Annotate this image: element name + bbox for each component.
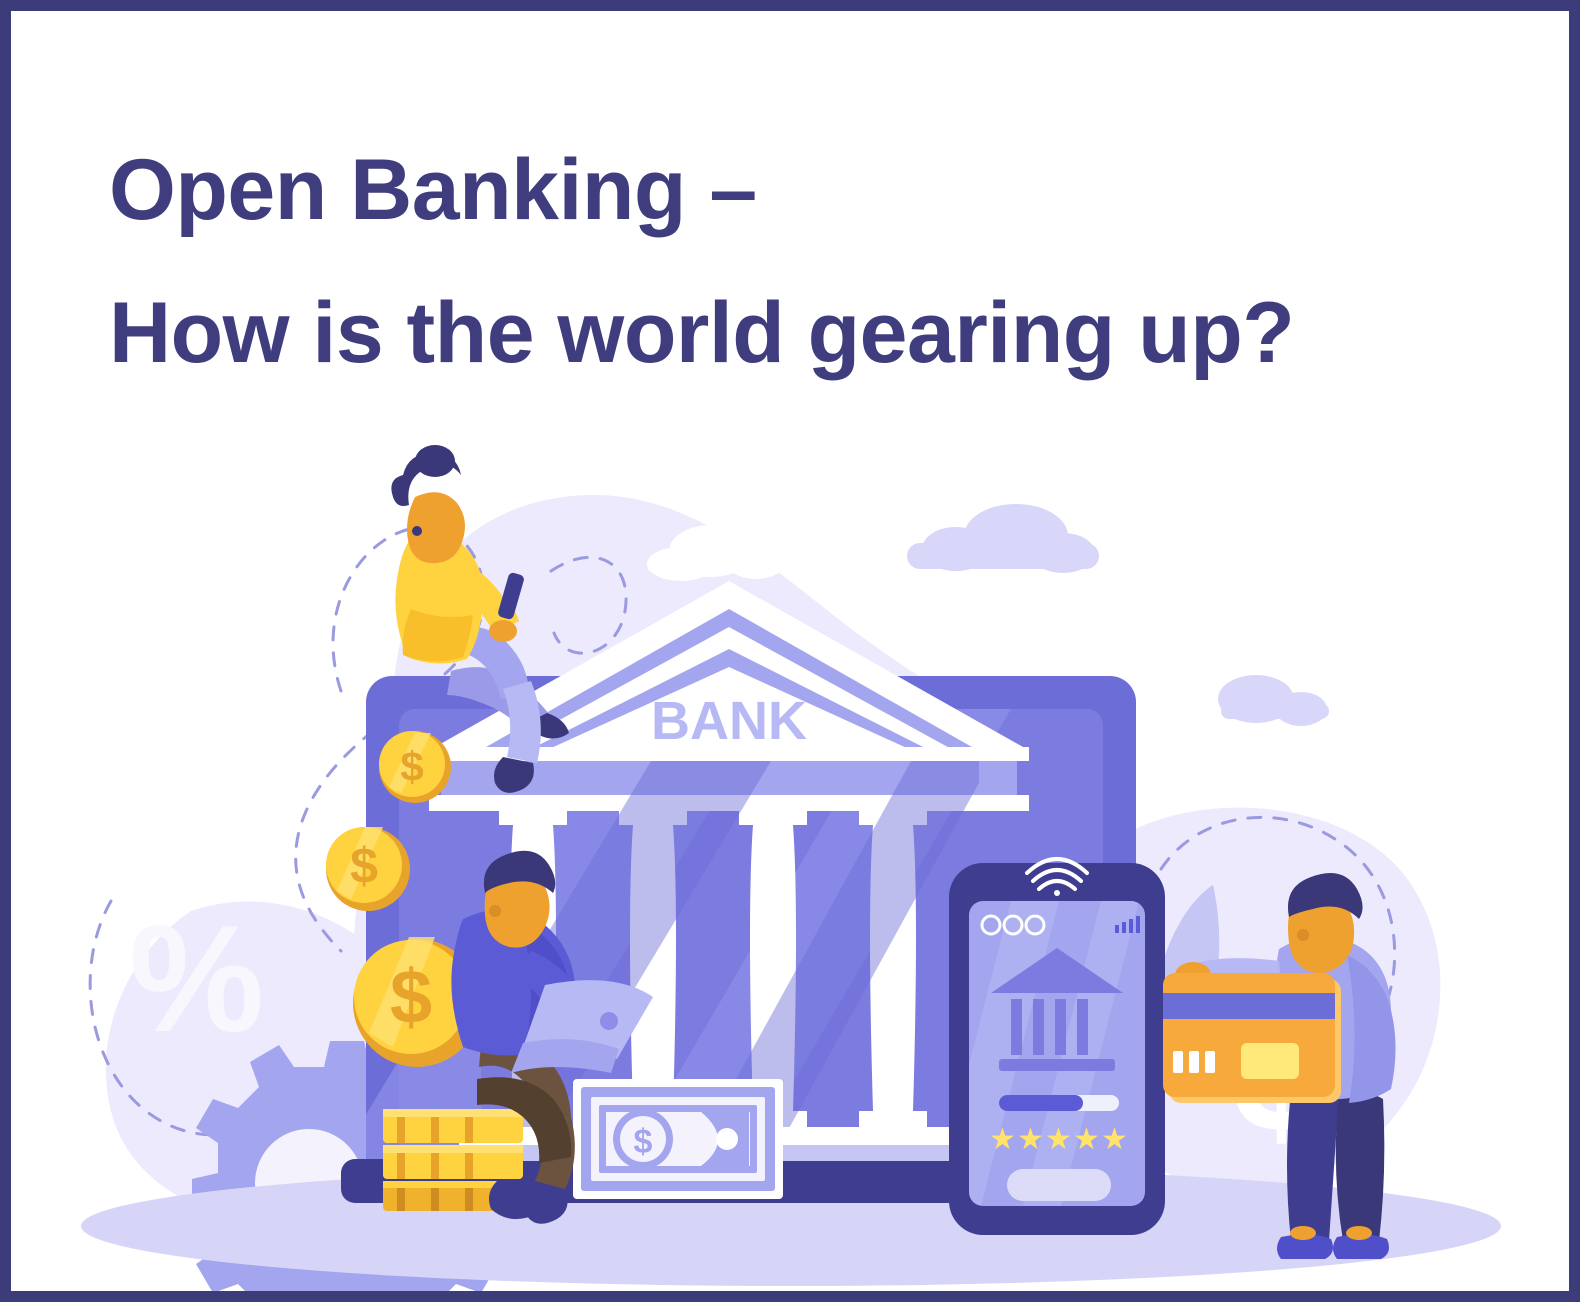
- coin-large-symbol: $: [390, 955, 432, 1040]
- star-icon-2: ★: [1017, 1123, 1044, 1156]
- woman-hand: [489, 620, 517, 642]
- percent-icon: %: [129, 894, 264, 1064]
- phone-star-rating: ★ ★ ★ ★ ★: [989, 1123, 1128, 1156]
- man-card-ear: [1297, 929, 1309, 941]
- woman-hair-bun: [415, 445, 455, 477]
- banknote: $: [573, 1079, 783, 1199]
- coin-stack-middle: [383, 1145, 523, 1179]
- star-icon-4: ★: [1073, 1123, 1100, 1156]
- coin-stack-top: [383, 1109, 523, 1143]
- credit-card-number-blocks: [1173, 1051, 1215, 1073]
- page-title-line-1: Open Banking –: [109, 119, 1469, 262]
- mobile-phone: ★ ★ ★ ★ ★: [933, 859, 1165, 1235]
- page-title-line-2: How is the world gearing up?: [109, 262, 1469, 405]
- woman-sweater-shade: [403, 609, 473, 662]
- coin-small-symbol: $: [400, 743, 423, 790]
- bank-label: BANK: [651, 691, 807, 751]
- phone-action-button[interactable]: [1007, 1169, 1111, 1201]
- star-icon-1: ★: [989, 1123, 1016, 1156]
- wifi-icon-dot: [1054, 890, 1060, 896]
- man-laptop-ear: [489, 905, 501, 917]
- star-icon-3: ★: [1045, 1123, 1072, 1156]
- page-title: Open Banking – How is the world gearing …: [109, 119, 1469, 405]
- cloud-lavender-top: [907, 504, 1099, 573]
- coin-small: $: [379, 731, 451, 803]
- screenshot-canvas: Open Banking – How is the world gearing …: [0, 0, 1580, 1302]
- open-banking-illustration: % $: [11, 431, 1569, 1291]
- slide-page: Open Banking – How is the world gearing …: [11, 11, 1569, 1291]
- man-card-ankle-left: [1290, 1226, 1316, 1240]
- credit-card: [1163, 973, 1341, 1103]
- credit-card-chip: [1241, 1043, 1299, 1079]
- coin-medium-symbol: $: [350, 838, 378, 894]
- credit-card-magnetic-stripe: [1163, 993, 1335, 1019]
- percent-symbol: %: [129, 894, 264, 1064]
- star-icon-5: ★: [1101, 1123, 1128, 1156]
- coin-medium: $: [326, 827, 410, 911]
- phone-progress-bar: [999, 1095, 1119, 1111]
- man-card-ankle-right: [1346, 1226, 1372, 1240]
- woman-earring: [412, 526, 422, 536]
- cloud-lavender-right: [1218, 675, 1329, 726]
- banknote-dollar-symbol: $: [634, 1123, 653, 1161]
- man-card-leg-right: [1336, 1092, 1385, 1241]
